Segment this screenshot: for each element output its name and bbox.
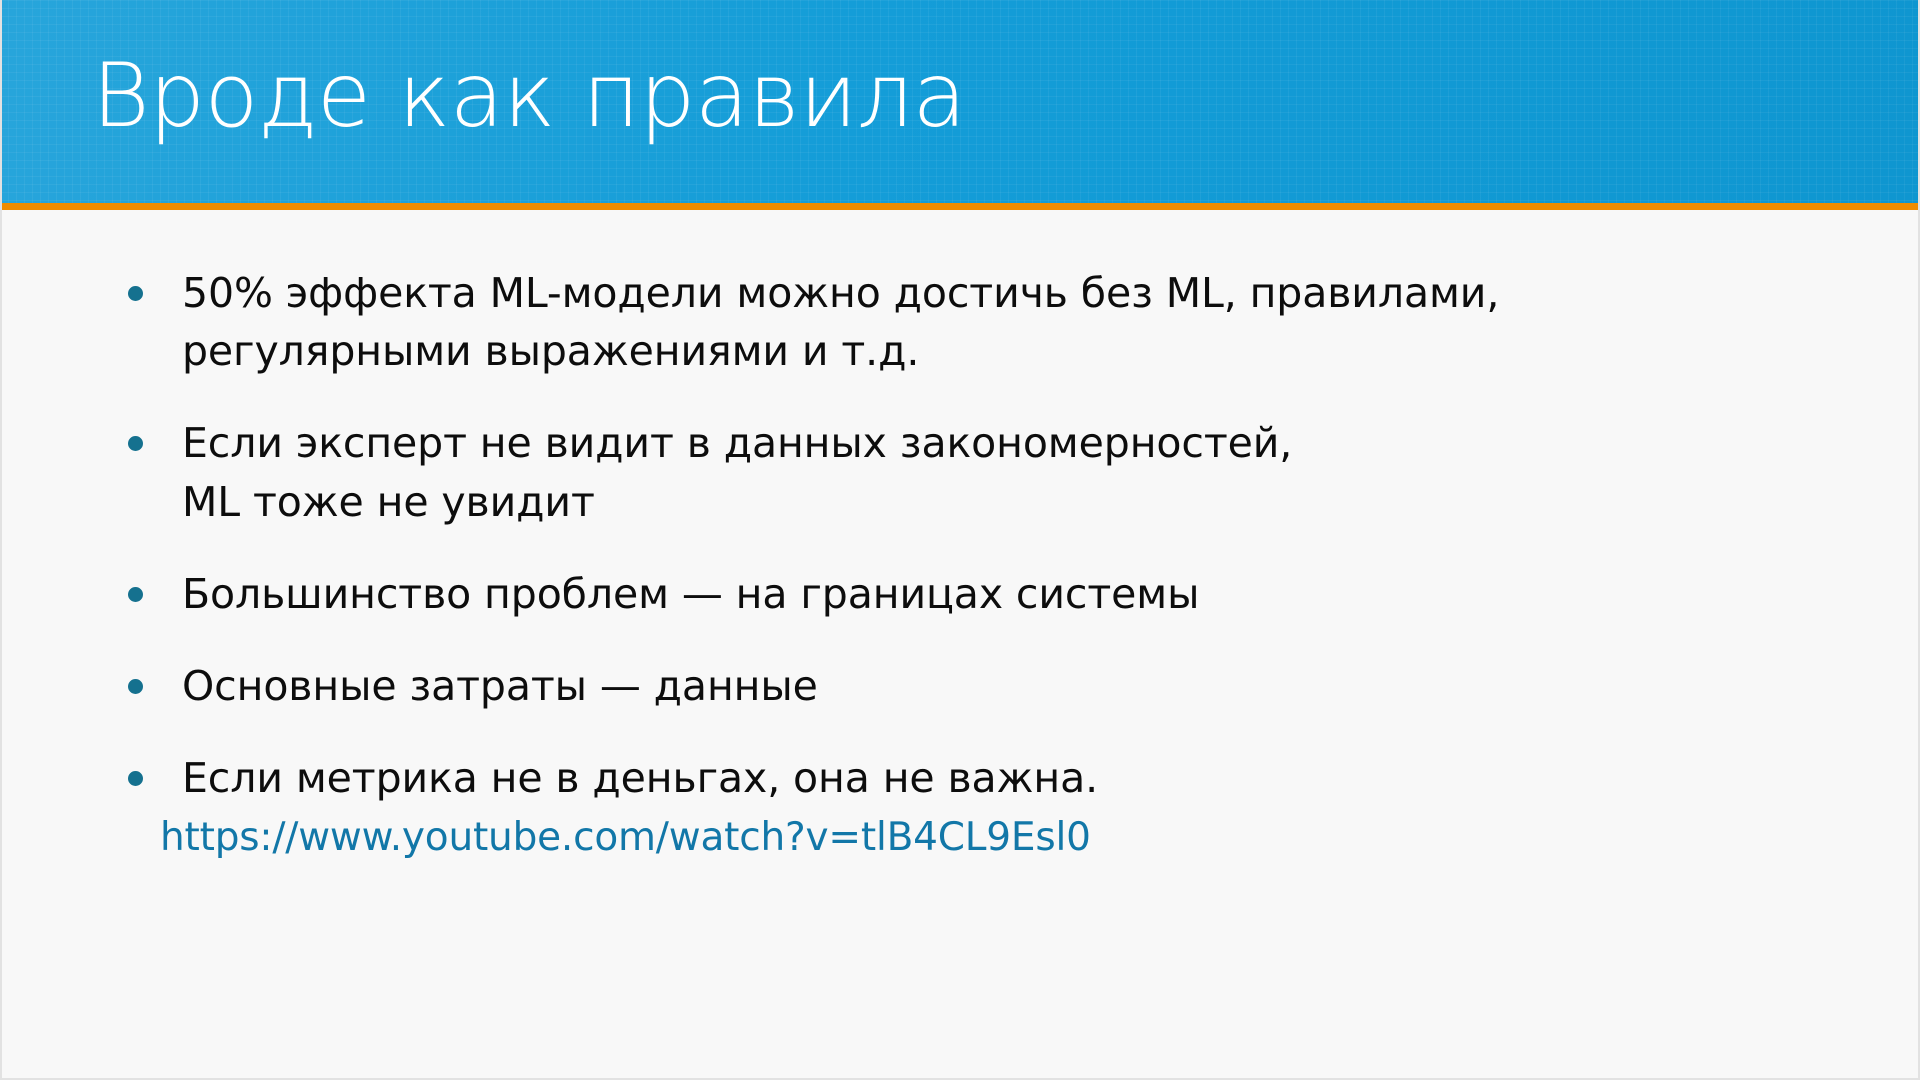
list-item-line-2: регулярными выражениями и т.д. (182, 322, 1852, 380)
bullet-dot-icon (128, 286, 143, 301)
list-item: Большинство проблем — на границах систем… (106, 565, 1852, 623)
slide-title-band: Вроде как правила (0, 0, 1920, 203)
bullet-dot-icon (128, 436, 143, 451)
list-item-line-2: ML тоже не увидит (182, 473, 1852, 531)
list-item: 50% эффекта ML-модели можно достичь без … (106, 264, 1852, 380)
youtube-link[interactable]: https://www.youtube.com/watch?v=tlB4CL9E… (160, 812, 1852, 865)
list-item-text: 50% эффекта ML-модели можно достичь без … (182, 264, 1852, 380)
bullet-list: 50% эффекта ML-модели можно достичь без … (106, 264, 1852, 864)
list-item-text: Если метрика не в деньгах, она не важна.… (182, 749, 1852, 864)
list-item-line-1: Основные затраты — данные (182, 657, 1852, 715)
list-item-line-1: Если метрика не в деньгах, она не важна. (182, 749, 1852, 807)
list-item-text: Основные затраты — данные (182, 657, 1852, 715)
list-item: Если эксперт не видит в данных закономер… (106, 414, 1852, 530)
bullet-dot-icon (128, 587, 143, 602)
accent-divider-rule (0, 203, 1920, 210)
list-item: Если метрика не в деньгах, она не важна.… (106, 749, 1852, 864)
list-item-line-1: Большинство проблем — на границах систем… (182, 565, 1852, 623)
list-item-text: Если эксперт не видит в данных закономер… (182, 414, 1852, 530)
page-title: Вроде как правила (92, 44, 966, 148)
presentation-slide: Вроде как правила 50% эффекта ML-модели … (0, 0, 1920, 1080)
slide-body: 50% эффекта ML-модели можно достичь без … (2, 210, 1920, 1076)
bullet-dot-icon (128, 771, 143, 786)
bullet-dot-icon (128, 679, 143, 694)
list-item-line-1: Если эксперт не видит в данных закономер… (182, 414, 1852, 472)
list-item-line-1: 50% эффекта ML-модели можно достичь без … (182, 264, 1852, 322)
list-item-text: Большинство проблем — на границах систем… (182, 565, 1852, 623)
list-item: Основные затраты — данные (106, 657, 1852, 715)
